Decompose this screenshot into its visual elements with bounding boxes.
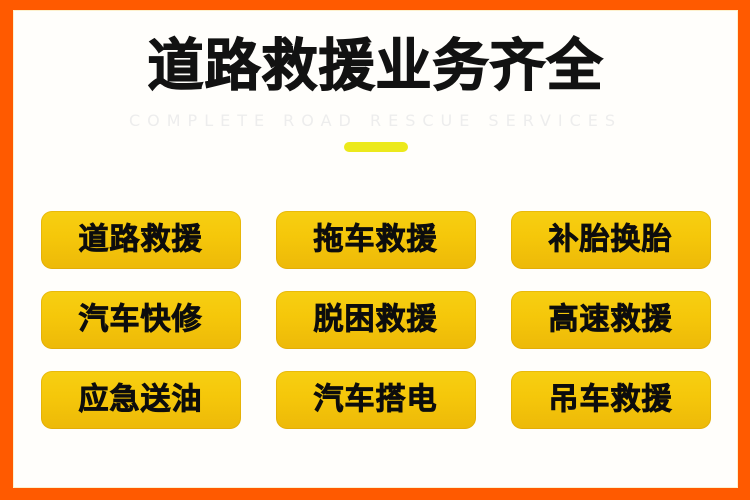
service-button-road-rescue[interactable]: 道路救援 bbox=[41, 211, 241, 269]
service-button-quick-car-repair[interactable]: 汽车快修 bbox=[41, 291, 241, 349]
service-button-highway-rescue[interactable]: 高速救援 bbox=[511, 291, 711, 349]
service-button-label: 脱困救援 bbox=[314, 305, 438, 335]
service-button-label: 拖车救援 bbox=[314, 225, 438, 255]
poster-canvas: 道路救援业务齐全 COMPLETE ROAD RESCUE SERVICES 道… bbox=[13, 10, 738, 488]
service-button-extrication-rescue[interactable]: 脱困救援 bbox=[276, 291, 476, 349]
service-button-emergency-fuel-delivery[interactable]: 应急送油 bbox=[41, 371, 241, 429]
service-button-label: 道路救援 bbox=[79, 225, 203, 255]
service-button-jump-start[interactable]: 汽车搭电 bbox=[276, 371, 476, 429]
poster-root: 道路救援业务齐全 COMPLETE ROAD RESCUE SERVICES 道… bbox=[0, 0, 750, 500]
service-button-grid: 道路救援 拖车救援 补胎换胎 汽车快修 脱困救援 高速救援 应急送油 汽车搭电 bbox=[41, 211, 710, 429]
accent-divider bbox=[344, 142, 408, 152]
service-button-label: 补胎换胎 bbox=[549, 225, 673, 255]
page-subtitle: COMPLETE ROAD RESCUE SERVICES bbox=[14, 111, 737, 130]
service-button-crane-rescue[interactable]: 吊车救援 bbox=[511, 371, 711, 429]
poster-header: 道路救援业务齐全 COMPLETE ROAD RESCUE SERVICES bbox=[14, 39, 737, 152]
page-title: 道路救援业务齐全 bbox=[14, 39, 737, 95]
service-button-label: 应急送油 bbox=[79, 385, 203, 415]
service-button-tow-rescue[interactable]: 拖车救援 bbox=[276, 211, 476, 269]
service-button-label: 高速救援 bbox=[549, 305, 673, 335]
service-button-tire-repair-change[interactable]: 补胎换胎 bbox=[511, 211, 711, 269]
service-button-label: 汽车快修 bbox=[79, 305, 203, 335]
service-button-label: 汽车搭电 bbox=[314, 385, 438, 415]
service-button-label: 吊车救援 bbox=[549, 385, 673, 415]
